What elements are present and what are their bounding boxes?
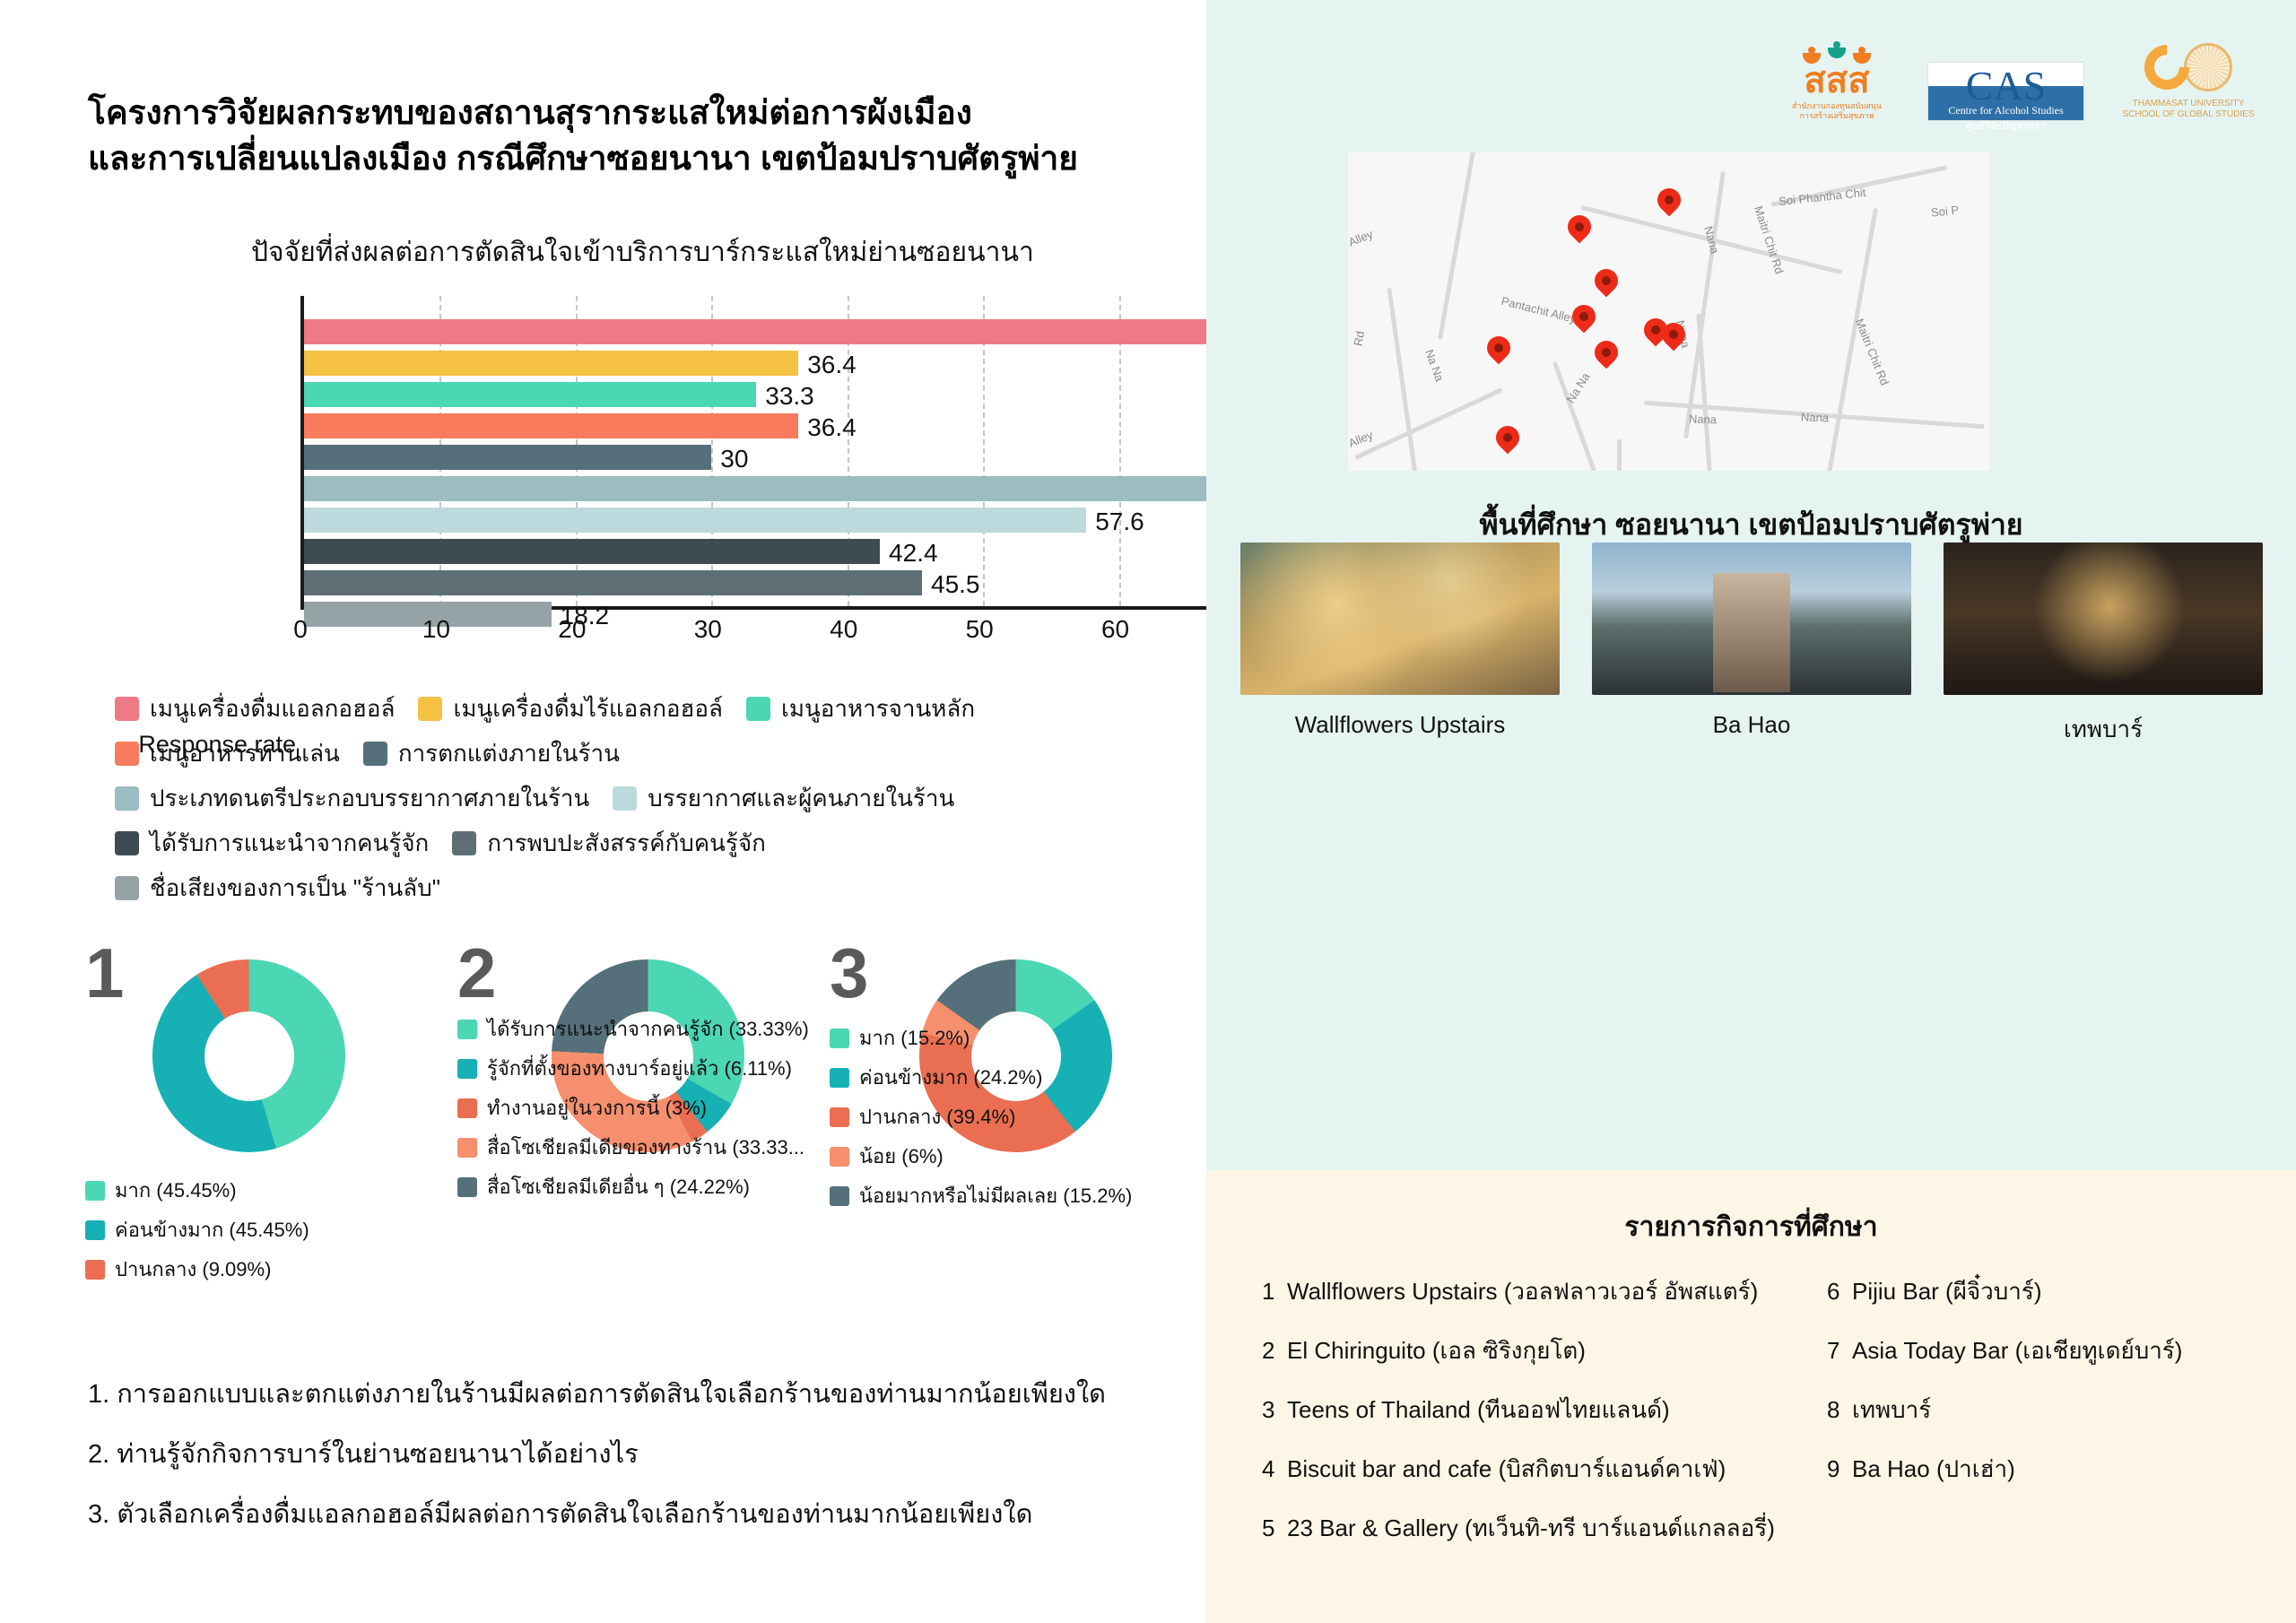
donut-legend-label: ค่อนข้างมาก (45.45%) [115, 1214, 309, 1245]
map-road-label: Soi P [1930, 203, 1959, 219]
bar-chart: Response rate 66.736.433.336.43069.757.6… [108, 296, 1166, 673]
donut-legend-item: ค่อนข้างมาก (24.2%) [830, 1062, 1179, 1093]
bar-row: 57.6 [304, 508, 1251, 535]
legend-swatch [452, 831, 476, 855]
donut-legend-item: สื่อโซเชียลมีเดียของทางร้าน (33.33... [457, 1132, 834, 1163]
donut-index-label: 3 [830, 933, 868, 1014]
map-road-label: Maitri Chit Rd [1853, 317, 1892, 387]
thaihealth-wordmark: สสส [1804, 63, 1869, 99]
bar-row: 69.7 [304, 476, 1251, 504]
donut-legend-item: น้อยมากหรือไม่มีผลเลย (15.2%) [830, 1180, 1179, 1211]
legend-item: บรรยากาศและผู้คนภายในร้าน [613, 780, 954, 817]
bar-value-label: 36.4 [798, 413, 857, 442]
donut-index-label: 1 [85, 933, 124, 1014]
x-axis-tick: 10 [422, 615, 450, 644]
bar-row: 30 [304, 445, 1251, 473]
bar-row: 66.7 [304, 319, 1251, 347]
right-panel: สสส สำนักงานกองทุนสนับสนุนการสร้างเสริมส… [1206, 0, 2296, 1623]
legend-item: ประเภทดนตรีประกอบบรรยากาศภายในร้าน [115, 780, 589, 817]
business-name: เทพบาร์ [1852, 1396, 1931, 1423]
bar [304, 351, 798, 376]
donut-legend-swatch [85, 1260, 105, 1280]
map-road-label: Nana [1689, 412, 1718, 426]
business-column-2: 6Pijiu Bar (ผีจิ๋วบาร์)7Asia Today Bar (… [1827, 1273, 2257, 1569]
legend-label: การพบปะสังสรรค์กับคนรู้จัก [487, 825, 766, 862]
legend-swatch [115, 831, 139, 855]
business-list-item: 523 Bar & Gallery (ทเว็นทิ-ทรี บาร์แอนด์… [1262, 1510, 1827, 1547]
map-pin-icon[interactable] [1496, 426, 1519, 456]
logo-row: สสส สำนักงานกองทุนสนับสนุนการสร้างเสริมส… [1779, 34, 2260, 121]
business-list-item: 9Ba Hao (ปาเฮ่า) [1827, 1451, 2257, 1488]
legend-swatch [115, 786, 139, 811]
map-road-label: Na Na [1563, 370, 1592, 405]
donut-legend-item: ได้รับการแนะนำจากคนรู้จัก (33.33%) [457, 1013, 834, 1045]
legend-item: เมนูอาหารทานเล่น [115, 735, 340, 772]
legend-item: ชื่อเสียงของการเป็น "ร้านลับ" [115, 870, 440, 907]
left-panel: โครงการวิจัยผลกระทบของสถานสุรากระแสใหม่ต… [0, 0, 1206, 1623]
legend-row: เมนูอาหารทานเล่นการตกแต่งภายในร้าน [115, 735, 1173, 772]
donut-legend: มาก (15.2%)ค่อนข้างมาก (24.2%)ปานกลาง (3… [830, 1022, 1179, 1219]
page-title: โครงการวิจัยผลกระทบของสถานสุรากระแสใหม่ต… [88, 90, 1146, 181]
bar-value-label: 30 [711, 445, 748, 473]
legend-item: เมนูเครื่องดื่มแอลกอฮอล์ [115, 690, 395, 727]
bar-row: 45.5 [304, 570, 1251, 598]
legend-swatch [115, 742, 139, 766]
business-index: 6 [1827, 1278, 1852, 1306]
donut-legend-item: ปานกลาง (9.09%) [85, 1254, 354, 1285]
photo-image [1944, 542, 2263, 695]
bar-row: 42.4 [304, 539, 1251, 567]
question-text: 1. การออกแบบและตกแต่งภายในร้านมีผลต่อการ… [88, 1376, 1119, 1413]
study-area-map[interactable]: Soi Phantha ChitSoi PMaitri Chit RdMaitr… [1348, 152, 1989, 471]
photo-cell: Ba Hao [1592, 542, 1911, 748]
business-list-item: 4Biscuit bar and cafe (บิสกิตบาร์แอนด์คา… [1262, 1451, 1827, 1488]
bar-value-label: 36.4 [798, 351, 857, 379]
cas-thai-name: ศูนย์วิจัยปัญหาสุรา [1928, 117, 2083, 138]
business-name: 23 Bar & Gallery (ทเว็นทิ-ทรี บาร์แอนด์แ… [1287, 1515, 1775, 1541]
donut-legend-item: ทำงานอยู่ในวงการนี้ (3%) [457, 1092, 834, 1124]
business-list-item: 3Teens of Thailand (ทีนออฟไทยแลนด์) [1262, 1392, 1827, 1428]
bar-value-label: 42.4 [880, 539, 938, 568]
map-pin-body [1657, 318, 1691, 352]
donut-legend-label: รู้จักที่ตั้งของทางบาร์อยู่แล้ว (6.11%) [487, 1053, 792, 1084]
map-pin-body [1563, 211, 1596, 244]
legend-item: เมนูเครื่องดื่มไร้แอลกอฮอล์ [418, 690, 723, 727]
business-name: Wallflowers Upstairs (วอลฟลาวเวอร์ อัพสแ… [1287, 1278, 1758, 1305]
business-list: 1Wallflowers Upstairs (วอลฟลาวเวอร์ อัพส… [1262, 1273, 2266, 1569]
questions-list: 1. การออกแบบและตกแต่งภายในร้านมีผลต่อการ… [88, 1376, 1119, 1558]
business-index: 7 [1827, 1337, 1852, 1365]
bar-value-label: 45.5 [922, 570, 980, 599]
map-pin-icon[interactable] [1595, 269, 1618, 299]
legend-label: บรรยากาศและผู้คนภายในร้าน [648, 780, 954, 817]
donut-legend-swatch [457, 1020, 477, 1039]
donut-legend-swatch [830, 1068, 849, 1088]
legend-label: ประเภทดนตรีประกอบบรรยากาศภายในร้าน [150, 780, 589, 817]
business-list-item: 8เทพบาร์ [1827, 1392, 2257, 1428]
map-road-label: Nana [1701, 225, 1722, 256]
legend-row: เมนูเครื่องดื่มแอลกอฮอล์เมนูเครื่องดื่มไ… [115, 690, 1173, 727]
bar-row: 36.4 [304, 413, 1251, 441]
business-index: 4 [1262, 1455, 1287, 1483]
bar-row: 33.3 [304, 382, 1251, 410]
donut-legend-label: สื่อโซเชียลมีเดียของทางร้าน (33.33... [487, 1132, 804, 1163]
x-axis-tick: 20 [558, 615, 586, 644]
donut-legend-label: ค่อนข้างมาก (24.2%) [859, 1062, 1042, 1093]
x-axis-tick: 50 [966, 615, 994, 644]
map-pin-icon[interactable] [1487, 336, 1510, 367]
map-pin-icon[interactable] [1657, 188, 1681, 219]
donut-legend-swatch [457, 1177, 477, 1197]
donut-ring [152, 959, 345, 1152]
map-pin-body [1653, 184, 1686, 217]
bar-chart-title: ปัจจัยที่ส่งผลต่อการตัดสินใจเข้าบริการบา… [251, 231, 1034, 273]
business-index: 1 [1262, 1278, 1287, 1306]
legend-item: ได้รับการแนะนำจากคนรู้จัก [115, 825, 429, 862]
photo-caption: Wallflowers Upstairs [1240, 711, 1560, 739]
bar-chart-xaxis: 010203040506070 [300, 615, 1251, 660]
legend-item: การพบปะสังสรรค์กับคนรู้จัก [452, 825, 766, 862]
donut-legend-item: มาก (15.2%) [830, 1022, 1179, 1054]
poster: โครงการวิจัยผลกระทบของสถานสุรากระแสใหม่ต… [0, 0, 2296, 1623]
business-name: Biscuit bar and cafe (บิสกิตบาร์แอนด์คาเ… [1287, 1455, 1726, 1482]
x-axis-tick: 60 [1101, 615, 1129, 644]
map-road [1617, 439, 1622, 471]
donut-legend-item: มาก (45.45%) [85, 1175, 354, 1206]
donut-legend-swatch [830, 1107, 849, 1127]
bar-value-label: 33.3 [756, 382, 814, 411]
map-road-label: Na Na [1422, 348, 1447, 384]
photo-row: Wallflowers UpstairsBa Haoเทพบาร์ [1240, 542, 2263, 748]
thaihealth-stars-icon [1801, 34, 1873, 61]
donut-legend-label: ปานกลาง (9.09%) [115, 1254, 271, 1285]
donut-legend-swatch [457, 1098, 477, 1118]
business-name: Pijiu Bar (ผีจิ๋วบาร์) [1852, 1278, 2042, 1305]
legend-swatch [115, 697, 139, 721]
bar [304, 319, 1210, 344]
legend-row: ได้รับการแนะนำจากคนรู้จักการพบปะสังสรรค์… [115, 825, 1173, 862]
map-road [1438, 152, 1478, 340]
donut-legend-swatch [830, 1186, 849, 1206]
map-road-label: Soi Phantha Chit [1778, 186, 1866, 208]
bar-chart-plot: 66.736.433.336.43069.757.642.445.518.2 [300, 296, 1251, 610]
legend-row: ประเภทดนตรีประกอบบรรยากาศภายในร้านบรรยาก… [115, 780, 1173, 817]
donut-legend-swatch [830, 1028, 849, 1048]
map-pin-body [1590, 336, 1623, 369]
legend-label: ชื่อเสียงของการเป็น "ร้านลับ" [150, 870, 440, 907]
bar [304, 539, 880, 564]
donut-legend-label: สื่อโซเชียลมีเดียอื่น ๆ (24.22%) [487, 1171, 750, 1202]
legend-swatch [746, 697, 770, 721]
map-pin-icon[interactable] [1568, 215, 1591, 246]
map-road-label: Pantachit Alley [1500, 294, 1577, 325]
business-index: 2 [1262, 1337, 1287, 1365]
map-road [1354, 387, 1502, 460]
bar-value-label: 57.6 [1086, 508, 1144, 536]
thaihealth-subtitle: สำนักงานกองทุนสนับสนุนการสร้างเสริมสุขภา… [1792, 101, 1882, 121]
bar-row: 36.4 [304, 351, 1251, 378]
bar [304, 445, 711, 470]
bar [304, 476, 1250, 501]
donut-index-label: 2 [457, 933, 496, 1014]
legend-swatch [115, 876, 139, 900]
x-axis-tick: 40 [830, 615, 857, 644]
map-road-label: Nana [1801, 410, 1830, 424]
business-name: Teens of Thailand (ทีนออฟไทยแลนด์) [1287, 1396, 1670, 1423]
donut-legend-swatch [85, 1220, 105, 1240]
question-text: 2. ท่านรู้จักกิจการบาร์ในย่านซอยนานาได้อ… [88, 1436, 1119, 1473]
bar [304, 508, 1086, 533]
donut-legend-label: ทำงานอยู่ในวงการนี้ (3%) [487, 1092, 707, 1124]
donut-legend-item: ค่อนข้างมาก (45.45%) [85, 1214, 354, 1245]
legend-swatch [418, 697, 442, 721]
donut-legend-swatch [457, 1138, 477, 1158]
map-pin-icon[interactable] [1662, 323, 1685, 353]
thammasat-seal-icon [2184, 43, 2232, 91]
donut-legend: มาก (45.45%)ค่อนข้างมาก (45.45%)ปานกลาง … [85, 1175, 354, 1293]
donut-legend-label: มาก (15.2%) [859, 1022, 970, 1054]
legend-label: ได้รับการแนะนำจากคนรู้จัก [150, 825, 429, 862]
thaihealth-logo: สสส สำนักงานกองทุนสนับสนุนการสร้างเสริมส… [1779, 34, 1895, 121]
bar [304, 413, 798, 438]
donut-charts: 1มาก (45.45%)ค่อนข้างมาก (45.45%)ปานกลาง… [85, 950, 1188, 1327]
business-name: El Chiringuito (เอล ซิริงกุยโต) [1287, 1337, 1586, 1364]
business-index: 3 [1262, 1396, 1287, 1424]
business-name: Ba Hao (ปาเฮ่า) [1852, 1455, 2015, 1482]
map-pin-icon[interactable] [1595, 341, 1618, 371]
photo-caption: เทพบาร์ [1944, 711, 2263, 748]
legend-label: เมนูเครื่องดื่มแอลกอฮอล์ [150, 690, 395, 727]
map-caption: พื้นที่ศึกษา ซอยนานา เขตป้อมปราบศัตรูพ่า… [1206, 502, 2296, 548]
donut-legend-swatch [85, 1181, 105, 1201]
photo-cell: เทพบาร์ [1944, 542, 2263, 748]
x-axis-tick: 30 [694, 615, 722, 644]
business-index: 8 [1827, 1396, 1852, 1424]
donut-legend-label: น้อย (6%) [859, 1141, 944, 1172]
legend-label: เมนูอาหารจานหลัก [781, 690, 975, 727]
donut-legend-item: น้อย (6%) [830, 1141, 1179, 1172]
donut-legend-label: มาก (45.45%) [115, 1175, 237, 1206]
legend-item: เมนูอาหารจานหลัก [746, 690, 975, 727]
question-text: 3. ตัวเลือกเครื่องดื่มแอลกอฮอล์มีผลต่อกา… [88, 1497, 1119, 1533]
bar-chart-legend: เมนูเครื่องดื่มแอลกอฮอล์เมนูเครื่องดื่มไ… [115, 690, 1173, 915]
donut-legend-swatch [457, 1059, 477, 1079]
donut-legend-label: ปานกลาง (39.4%) [859, 1101, 1015, 1133]
business-list-item: 6Pijiu Bar (ผีจิ๋วบาร์) [1827, 1273, 2257, 1310]
map-road [1696, 314, 1712, 471]
map-pin-icon[interactable] [1572, 305, 1596, 335]
map-pin-body [1590, 265, 1623, 298]
business-list-item: 1Wallflowers Upstairs (วอลฟลาวเวอร์ อัพส… [1262, 1273, 1827, 1310]
photo-caption: Ba Hao [1592, 711, 1911, 739]
map-pin-body [1568, 300, 1601, 334]
donut-legend-label: น้อยมากหรือไม่มีผลเลย (15.2%) [859, 1180, 1132, 1211]
legend-swatch [363, 742, 387, 766]
donut-legend-label: ได้รับการแนะนำจากคนรู้จัก (33.33%) [487, 1013, 809, 1045]
go-subtitle: THAMMASAT UNIVERSITYSCHOOL OF GLOBAL STU… [2117, 99, 2260, 121]
map-pin-body [1492, 421, 1525, 455]
bar-series: 66.736.433.336.43069.757.642.445.518.2 [304, 319, 1251, 633]
business-column-1: 1Wallflowers Upstairs (วอลฟลาวเวอร์ อัพส… [1262, 1273, 1827, 1569]
photo-image [1240, 542, 1560, 695]
donut-legend-item: รู้จักที่ตั้งของทางบาร์อยู่แล้ว (6.11%) [457, 1053, 834, 1084]
donut-legend-swatch [830, 1147, 849, 1167]
photo-cell: Wallflowers Upstairs [1240, 542, 1560, 748]
legend-swatch [613, 786, 637, 811]
map-road-label: Alley [1348, 428, 1375, 449]
bar [304, 570, 922, 595]
business-index: 9 [1827, 1455, 1852, 1483]
legend-label: เมนูเครื่องดื่มไร้แอลกอฮอล์ [453, 690, 723, 727]
go-mark [2117, 39, 2260, 95]
business-list-title: รายการกิจการที่ศึกษา [1206, 1206, 2296, 1248]
go-logo: THAMMASAT UNIVERSITYSCHOOL OF GLOBAL STU… [2117, 39, 2260, 121]
photo-image [1592, 542, 1911, 695]
business-list-item: 7Asia Today Bar (เอเชียทูเดย์บาร์) [1827, 1332, 2257, 1369]
bar [304, 382, 756, 407]
donut-legend: ได้รับการแนะนำจากคนรู้จัก (33.33%)รู้จัก… [457, 1013, 834, 1211]
business-list-item: 2El Chiringuito (เอล ซิริงกุยโต) [1262, 1332, 1827, 1369]
map-road-label: Rd [1351, 330, 1367, 347]
map-road [1387, 288, 1421, 471]
donut-legend-item: สื่อโซเชียลมีเดียอื่น ๆ (24.22%) [457, 1171, 834, 1202]
business-name: Asia Today Bar (เอเชียทูเดย์บาร์) [1852, 1337, 2182, 1364]
legend-item: การตกแต่งภายในร้าน [363, 735, 620, 772]
legend-label: เมนูอาหารทานเล่น [150, 735, 340, 772]
legend-label: การตกแต่งภายในร้าน [398, 735, 620, 772]
go-g-icon [2135, 35, 2199, 99]
x-axis-tick: 0 [293, 615, 308, 644]
map-road-label: Maitri Chit Rd [1752, 204, 1787, 276]
legend-row: ชื่อเสียงของการเป็น "ร้านลับ" [115, 870, 1173, 907]
map-pin-body [1483, 332, 1516, 365]
business-index: 5 [1262, 1515, 1287, 1542]
donut-legend-item: ปานกลาง (39.4%) [830, 1101, 1179, 1133]
map-road-label: Alley [1348, 227, 1375, 248]
cas-logo: CAS Centre for Alcohol Studies ศูนย์วิจั… [1927, 62, 2084, 121]
